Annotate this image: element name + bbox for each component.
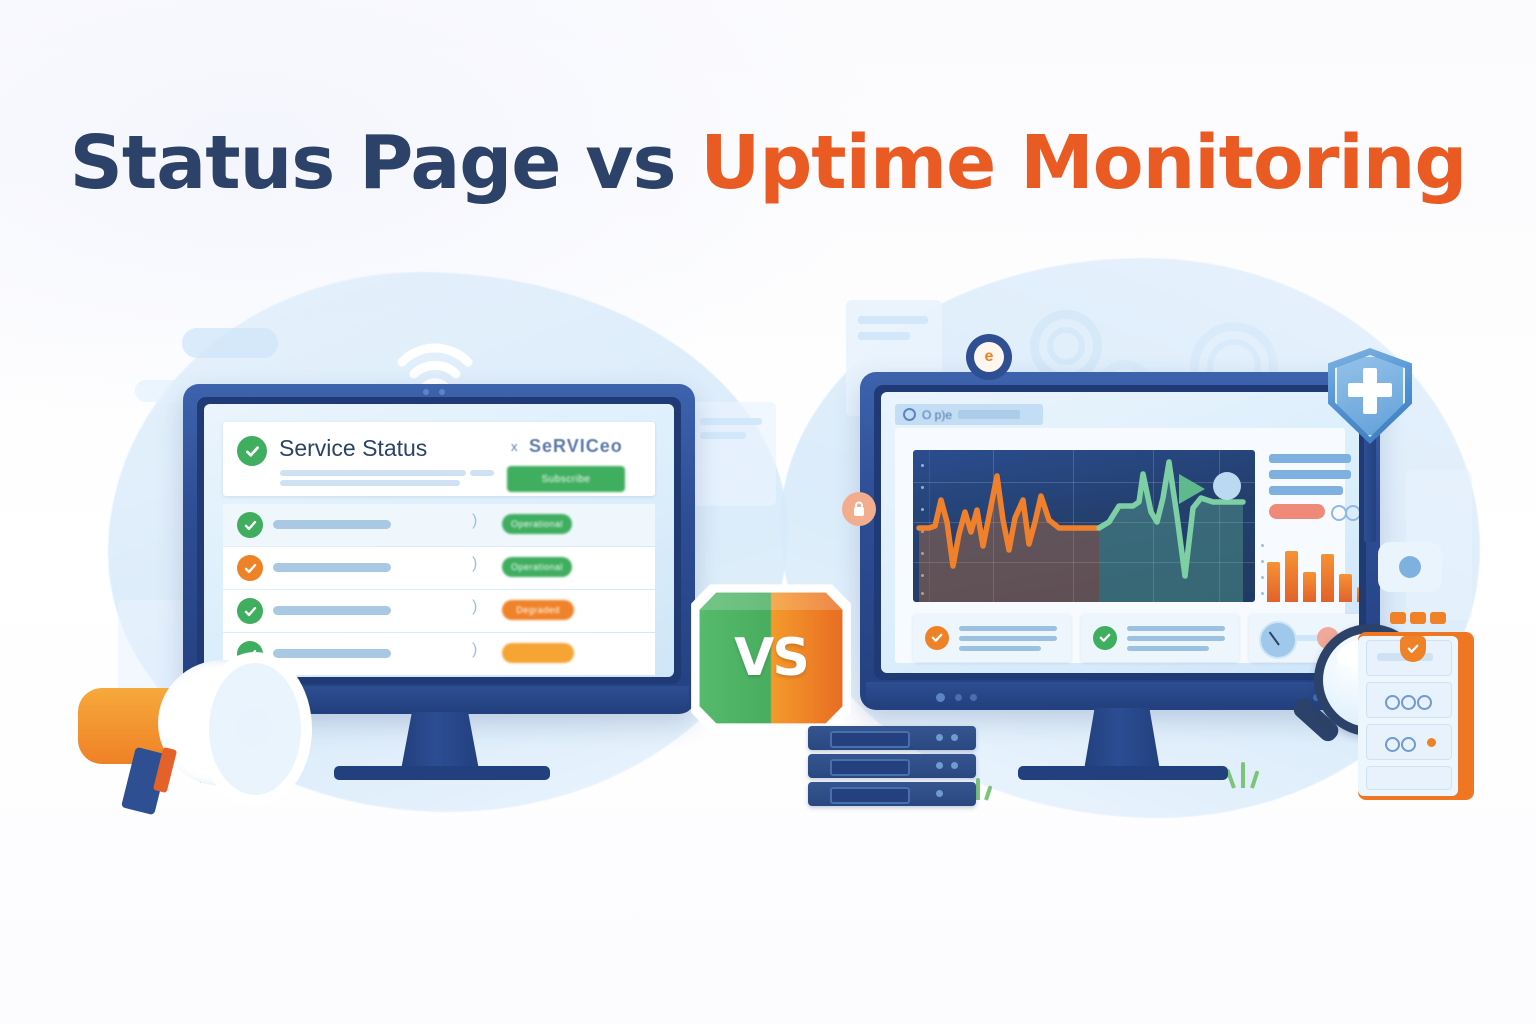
indicator-dot-right-1 <box>955 694 962 701</box>
server-unit <box>808 782 976 806</box>
lock-badge-icon <box>842 492 876 526</box>
server-slot <box>830 759 910 776</box>
lock-icon <box>852 501 866 517</box>
service-status-header-card: Service Status x SeRVICeo Subscribe <box>223 422 655 496</box>
orange-chip-1 <box>1390 612 1406 624</box>
server-stack-icon <box>808 726 988 810</box>
status-card-ok[interactable] <box>1081 614 1239 662</box>
alert-badge-inner: e <box>974 342 1004 372</box>
cloud-decor-1 <box>182 328 278 358</box>
shield-check-icon <box>1328 348 1412 444</box>
service-status-title: Service Status <box>279 435 427 462</box>
row-label-bar <box>273 563 391 572</box>
orange-chip-2 <box>1410 612 1426 624</box>
server-led <box>936 762 943 769</box>
chart-series-svg <box>913 450 1255 602</box>
table-row[interactable]: ) Operational <box>223 504 655 546</box>
bar-axis-tick <box>1261 576 1264 579</box>
bar-axis-tick <box>1261 544 1264 547</box>
server-slot <box>830 787 910 804</box>
mini-line-decor-2 <box>858 332 910 340</box>
megaphone-icon <box>66 630 336 810</box>
table-row[interactable]: ) Degraded <box>223 590 655 632</box>
row-status-pill: Operational <box>502 557 572 577</box>
row-meta-glyph: ) <box>472 512 477 530</box>
server-card-alert-dot <box>1427 738 1436 747</box>
bar <box>1285 551 1298 602</box>
server-card-ring <box>1417 695 1432 710</box>
server-unit <box>808 726 976 750</box>
webcam-dot-left <box>423 389 429 395</box>
topbar-status-dot-icon <box>903 408 916 421</box>
avatar <box>1399 556 1421 578</box>
row-status-pill <box>502 643 574 663</box>
illustration-canvas: Status Page vs Uptime Monitoring Service… <box>0 0 1536 1024</box>
sidebar-line-3 <box>1269 486 1343 495</box>
megaphone-mouth <box>198 652 312 806</box>
row-check-icon <box>237 598 263 624</box>
header-line-1 <box>280 470 466 476</box>
page-title-left: Status Page vs <box>70 120 701 206</box>
server-led <box>951 734 958 741</box>
sidebar-ring-2 <box>1345 505 1359 521</box>
header-line-3 <box>470 470 494 476</box>
row-meta-glyph: ) <box>472 641 477 659</box>
server-card-ring <box>1385 695 1400 710</box>
mini-line-decor-4 <box>700 432 746 439</box>
webcam-dot-left-2 <box>439 389 445 395</box>
service-status-check-icon <box>237 436 267 466</box>
server-unit <box>808 754 976 778</box>
grass-decor-right <box>1228 762 1274 788</box>
server-card-mid <box>1366 682 1452 718</box>
row-status-pill: Operational <box>502 514 572 534</box>
bar <box>1357 587 1359 602</box>
bar-axis-tick <box>1261 592 1264 595</box>
monitor-neck-right <box>1084 708 1160 770</box>
row-status-pill: Degraded <box>502 600 574 620</box>
server-led <box>936 734 943 741</box>
server-slot <box>830 731 910 748</box>
server-card-ring <box>1385 737 1400 752</box>
bar <box>1321 554 1334 602</box>
sidebar-alert-pill <box>1269 504 1325 519</box>
bar <box>1267 562 1280 602</box>
monitor-neck-left <box>401 712 479 770</box>
power-dot-right <box>936 693 945 702</box>
page-title: Status Page vs Uptime Monitoring <box>0 120 1536 206</box>
row-meta-glyph: ) <box>472 555 477 573</box>
alert-badge-icon: e <box>966 334 1012 380</box>
status-card-lines <box>1127 626 1225 651</box>
bar <box>1303 572 1316 602</box>
page-title-right: Uptime Monitoring <box>700 120 1466 206</box>
vs-badge-label: VS <box>686 578 856 738</box>
brand-prefix-x: x <box>511 439 518 454</box>
row-check-icon <box>237 512 263 538</box>
orange-chip-3 <box>1430 612 1446 624</box>
server-card-ring <box>1401 737 1416 752</box>
shield-cross-horizontal <box>1348 383 1392 397</box>
mini-line-decor-3 <box>700 418 762 425</box>
user-badge-icon <box>1378 542 1442 592</box>
status-card-check-icon <box>1093 626 1117 650</box>
subscribe-button[interactable]: Subscribe <box>507 466 625 492</box>
server-led <box>936 790 943 797</box>
brand-label: SeRVICeo <box>529 436 623 457</box>
sidebar-line-2 <box>1269 470 1351 479</box>
indicator-dot-right-2 <box>970 694 977 701</box>
uptime-response-chart <box>913 450 1255 602</box>
row-meta-glyph: ) <box>472 598 477 616</box>
row-label-bar <box>273 520 391 529</box>
bar <box>1339 574 1352 602</box>
monitor-base-left <box>334 766 550 780</box>
status-card-warning[interactable] <box>913 614 1071 662</box>
status-card-check-icon <box>925 626 949 650</box>
table-row[interactable]: ) Operational <box>223 547 655 589</box>
sidebar-line-1 <box>1269 454 1351 463</box>
app-topbar: O p)e <box>895 404 1043 425</box>
header-line-2 <box>280 480 460 486</box>
play-triangle-icon <box>1179 474 1205 504</box>
topbar-title: O p)e <box>922 408 952 422</box>
server-panel-check-icon <box>1400 636 1426 662</box>
progress-dot-icon <box>1213 472 1241 500</box>
gauge-needle <box>1269 631 1280 645</box>
server-card-bottom <box>1366 724 1452 760</box>
megaphone-mouth-core <box>235 707 273 747</box>
server-led <box>951 762 958 769</box>
status-card-lines <box>959 626 1057 651</box>
bar-axis-tick <box>1261 560 1264 563</box>
monitor-base-right <box>1018 766 1228 780</box>
mini-line-decor-1 <box>858 316 928 324</box>
server-card-footer <box>1366 766 1452 790</box>
vs-badge: VS <box>686 578 856 738</box>
row-label-bar <box>273 606 391 615</box>
server-card-ring <box>1401 695 1416 710</box>
row-check-icon <box>237 555 263 581</box>
topbar-ghost-text <box>958 410 1020 419</box>
response-bars <box>1267 534 1359 602</box>
